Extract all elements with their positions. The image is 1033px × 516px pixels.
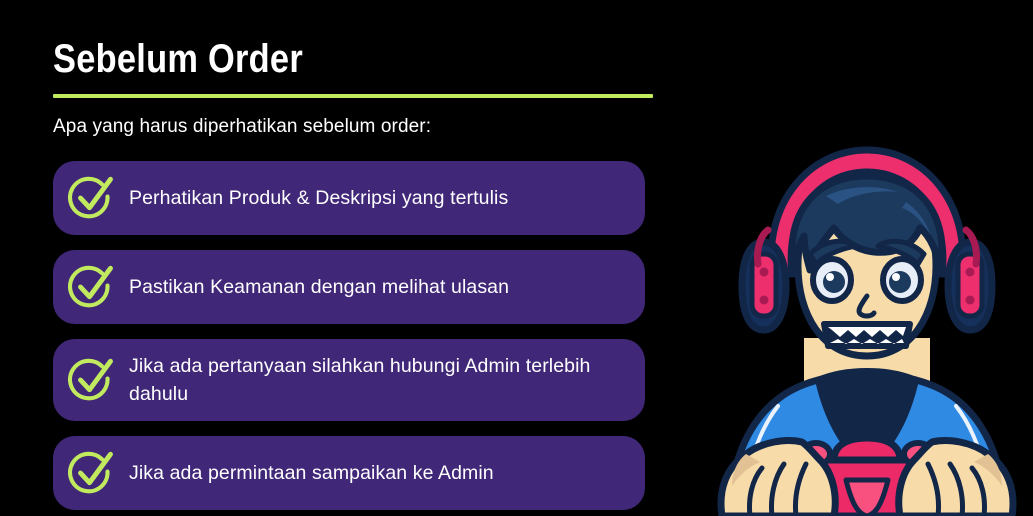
check-circle-icon: [67, 356, 115, 404]
slide-root: Sebelum Order Apa yang harus diperhatika…: [0, 0, 1033, 516]
title-underline-rule: [53, 94, 653, 98]
list-item-label: Perhatikan Produk & Deskripsi yang tertu…: [129, 184, 508, 212]
mouth: [824, 324, 910, 346]
check-circle-icon: [67, 449, 115, 497]
eye-left: [813, 259, 851, 301]
page-title: Sebelum Order: [53, 36, 569, 82]
check-circle-icon: [67, 174, 115, 222]
list-item[interactable]: Pastikan Keamanan dengan melihat ulasan: [53, 250, 645, 324]
checklist: Perhatikan Produk & Deskripsi yang tertu…: [53, 161, 653, 510]
subtitle-text: Apa yang harus diperhatikan sebelum orde…: [53, 115, 653, 139]
content-column: Sebelum Order Apa yang harus diperhatika…: [53, 36, 653, 510]
gamer-boy-mascot-illustration: [706, 124, 1028, 516]
check-circle-icon: [67, 263, 115, 311]
list-item[interactable]: Perhatikan Produk & Deskripsi yang tertu…: [53, 161, 645, 235]
list-item[interactable]: Jika ada permintaan sampaikan ke Admin: [53, 436, 645, 510]
list-item[interactable]: Jika ada pertanyaan silahkan hubungi Adm…: [53, 339, 645, 421]
list-item-label: Jika ada pertanyaan silahkan hubungi Adm…: [129, 352, 627, 408]
list-item-label: Pastikan Keamanan dengan melihat ulasan: [129, 273, 509, 301]
eye-right: [883, 259, 921, 301]
list-item-label: Jika ada permintaan sampaikan ke Admin: [129, 459, 494, 487]
